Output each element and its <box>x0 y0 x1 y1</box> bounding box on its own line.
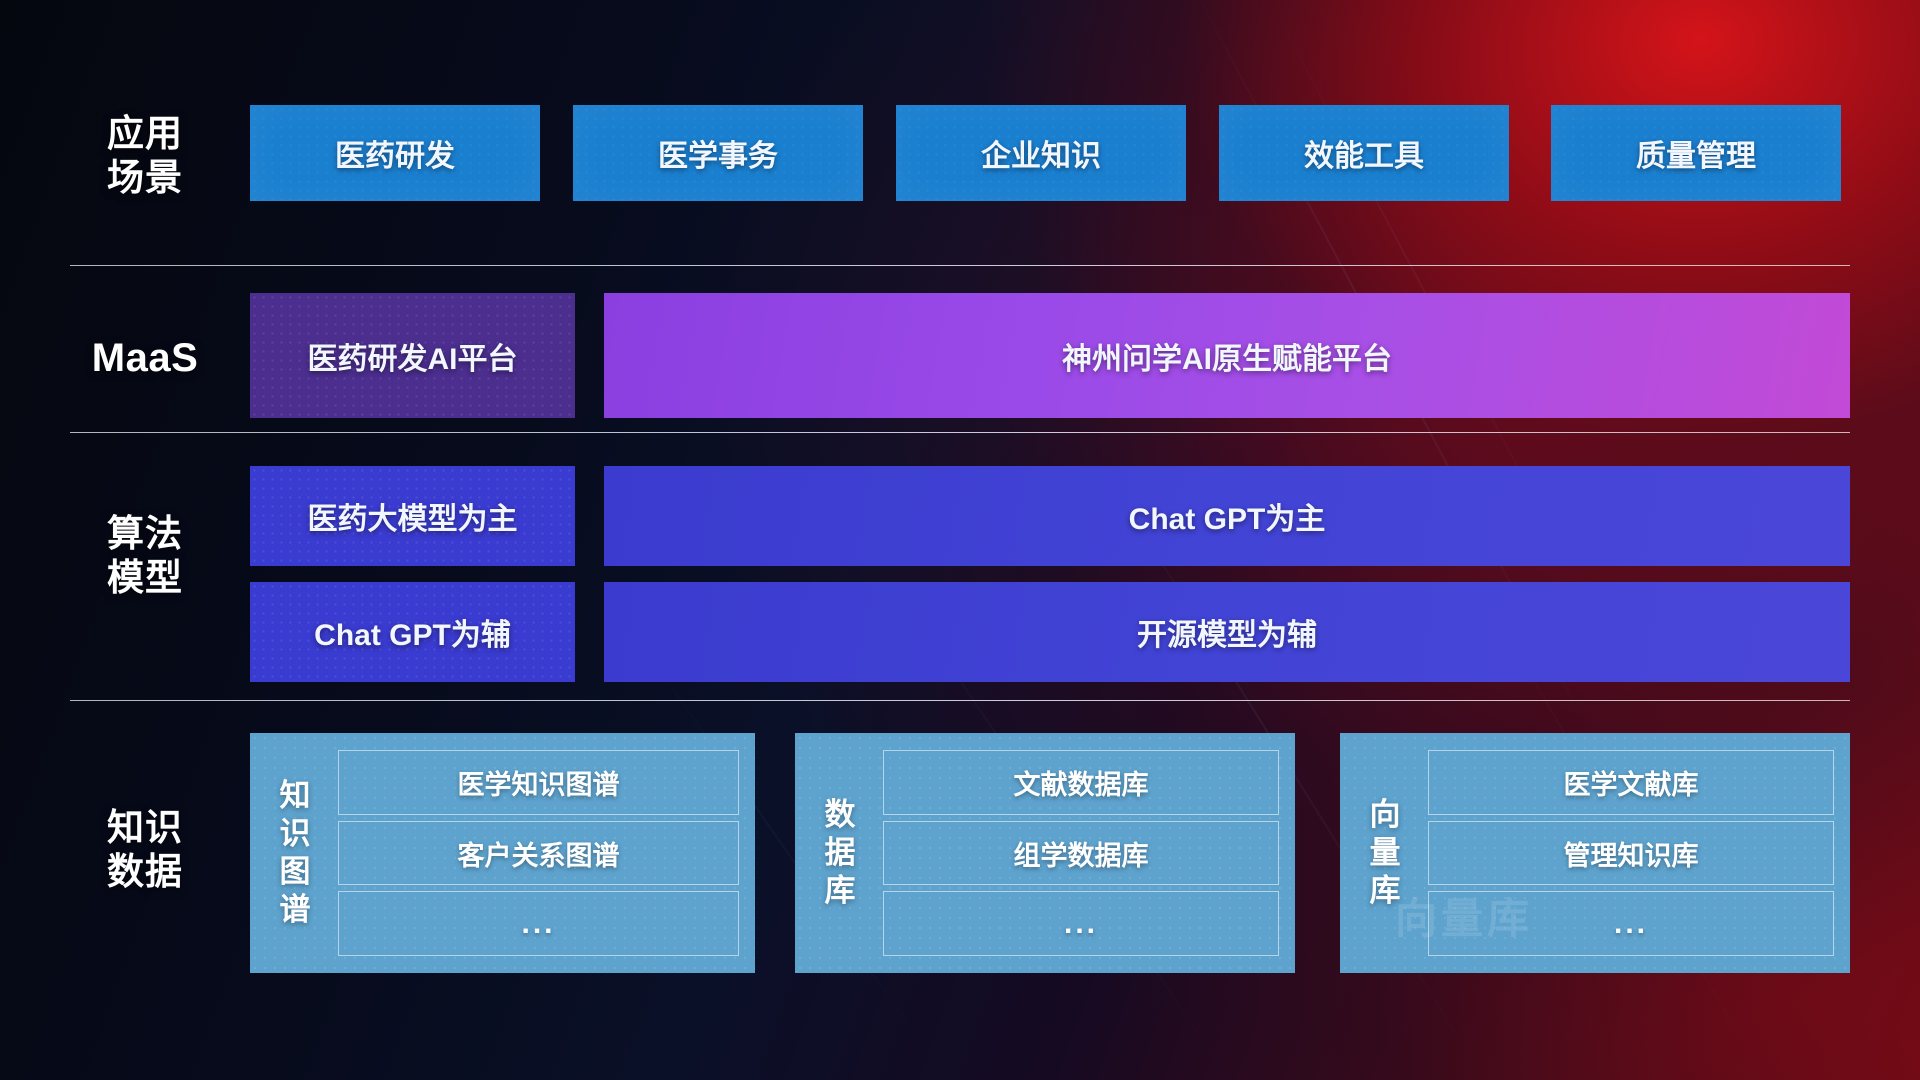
algo-cell-opensource-secondary[interactable]: 开源模型为辅 <box>604 582 1850 682</box>
row-label-line1: 应用 <box>70 112 220 156</box>
app-cell-drug-rd[interactable]: 医药研发 <box>250 105 540 201</box>
row-label-line2: 模型 <box>70 556 220 600</box>
knowledge-group-items: 文献数据库 组学数据库 ... <box>883 747 1279 959</box>
row-label-algorithm-models: 算法 模型 <box>70 512 220 599</box>
knowledge-item-more[interactable]: ... <box>883 891 1279 956</box>
knowledge-item-more[interactable]: ... <box>1428 891 1834 956</box>
label-char: 库 <box>825 872 856 910</box>
maas-cell-shenzhou-wenxue-platform[interactable]: 神州问学AI原生赋能平台 <box>604 293 1850 418</box>
knowledge-group-label-knowledge-graph: 知 识 图 谱 <box>264 777 326 928</box>
row-label-line1: 知识 <box>70 806 220 850</box>
knowledge-item-customer-relationship-graph[interactable]: 客户关系图谱 <box>338 821 739 886</box>
row-label-line2: 数据 <box>70 850 220 894</box>
app-cell-efficiency-tools[interactable]: 效能工具 <box>1219 105 1509 201</box>
app-cell-enterprise-knowledge[interactable]: 企业知识 <box>896 105 1186 201</box>
label-char: 向 <box>1370 796 1401 834</box>
knowledge-group-database: 数 据 库 文献数据库 组学数据库 ... <box>795 733 1295 973</box>
divider-3 <box>70 700 1850 701</box>
knowledge-group-items: 医学知识图谱 客户关系图谱 ... <box>338 747 739 959</box>
row-label-maas: MaaS <box>70 335 220 382</box>
label-char: 库 <box>1370 872 1401 910</box>
knowledge-item-medical-literature-store[interactable]: 医学文献库 <box>1428 750 1834 815</box>
row-label-line1: 算法 <box>70 512 220 556</box>
app-cell-medical-affairs[interactable]: 医学事务 <box>573 105 863 201</box>
algo-cell-chatgpt-primary[interactable]: Chat GPT为主 <box>604 466 1850 566</box>
label-char: 谱 <box>280 891 311 929</box>
row-label-knowledge-data: 知识 数据 <box>70 806 220 893</box>
label-char: 量 <box>1370 834 1401 872</box>
app-cell-quality-management[interactable]: 质量管理 <box>1551 105 1841 201</box>
row-label-line2: 场景 <box>70 156 220 200</box>
label-char: 图 <box>280 853 311 891</box>
knowledge-item-medical-knowledge-graph[interactable]: 医学知识图谱 <box>338 750 739 815</box>
algo-cell-pharma-llm-primary[interactable]: 医药大模型为主 <box>250 466 575 566</box>
knowledge-item-literature-database[interactable]: 文献数据库 <box>883 750 1279 815</box>
knowledge-group-label-vector-store: 向 量 库 <box>1354 796 1416 909</box>
knowledge-group-knowledge-graph: 知 识 图 谱 医学知识图谱 客户关系图谱 ... <box>250 733 755 973</box>
label-char: 据 <box>825 834 856 872</box>
knowledge-group-label-database: 数 据 库 <box>809 796 871 909</box>
knowledge-item-more[interactable]: ... <box>338 891 739 956</box>
architecture-diagram: 应用 场景 医药研发 医学事务 企业知识 效能工具 质量管理 MaaS 医药研发… <box>0 0 1920 1080</box>
knowledge-item-management-knowledge-store[interactable]: 管理知识库 <box>1428 821 1834 886</box>
label-char: 识 <box>280 815 311 853</box>
knowledge-group-vector-store: 向 量 库 医学文献库 管理知识库 ... <box>1340 733 1850 973</box>
divider-2 <box>70 432 1850 433</box>
knowledge-item-omics-database[interactable]: 组学数据库 <box>883 821 1279 886</box>
row-label-application-scenarios: 应用 场景 <box>70 112 220 199</box>
algo-cell-chatgpt-secondary[interactable]: Chat GPT为辅 <box>250 582 575 682</box>
label-char: 数 <box>825 796 856 834</box>
maas-cell-drug-rd-ai-platform[interactable]: 医药研发AI平台 <box>250 293 575 418</box>
label-char: 知 <box>280 777 311 815</box>
divider-1 <box>70 265 1850 266</box>
knowledge-group-items: 医学文献库 管理知识库 ... <box>1428 747 1834 959</box>
